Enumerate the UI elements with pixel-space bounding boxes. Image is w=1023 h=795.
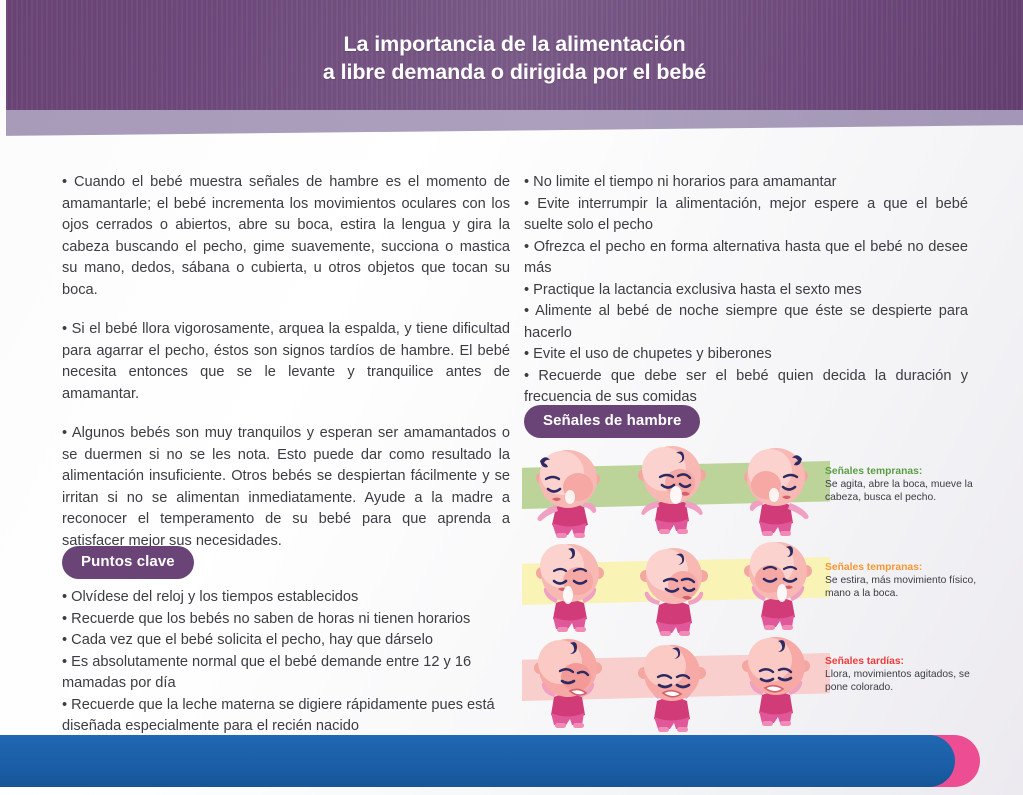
content-area: • Cuando el bebé muestra señales de hamb… xyxy=(0,150,1023,745)
signal-caption-title: Señales tempranas: xyxy=(825,465,985,478)
baby-illustration-icon xyxy=(632,545,716,641)
hunger-signals-badge: Señales de hambre xyxy=(524,405,700,438)
baby-illustration-icon xyxy=(736,539,820,635)
list-item: • Es absolutamente normal que el bebé de… xyxy=(62,652,517,695)
header-banner: La importancia de la alimentación a libr… xyxy=(6,0,1023,118)
list-item: • Alimente al bebé de noche siempre que … xyxy=(524,301,968,344)
hunger-signals-panel: Señales tempranas: Se agita, abre la boc… xyxy=(520,443,990,741)
key-points-list: • Olvídese del reloj y los tiempos estab… xyxy=(62,587,517,738)
list-item: • Recuerde que la leche materna se digie… xyxy=(62,695,517,738)
page-title-line-1: La importancia de la alimentación xyxy=(6,30,1023,58)
header-ribbon-divider xyxy=(6,110,1023,146)
hunger-signals-badge-wrap: Señales de hambre xyxy=(524,405,700,438)
key-points-badge-wrap: Puntos clave xyxy=(62,546,194,579)
baby-group-row-3 xyxy=(520,635,835,733)
list-item: • Recuerde que los bebés no saben de hor… xyxy=(62,609,517,631)
list-item: • No limite el tiempo ni horarios para a… xyxy=(524,172,968,194)
list-item: • Ofrezca el pecho en forma alternativa … xyxy=(524,237,968,280)
list-item: • Practique la lactancia exclusiva hasta… xyxy=(524,280,968,302)
paragraph-late-signs: • Si el bebé llora vigorosamente, arquea… xyxy=(62,319,510,405)
signal-caption-title: Señales tempranas: xyxy=(825,561,985,574)
signal-caption-title: Señales tardías: xyxy=(825,655,985,668)
signal-caption-body: Se agita, abre la boca, mueve la cabeza,… xyxy=(825,478,985,504)
baby-illustration-icon xyxy=(734,635,818,731)
page-title-line-2: a libre demanda o dirigida por el bebé xyxy=(6,58,1023,86)
paragraph-hunger-cues: • Cuando el bebé muestra señales de hamb… xyxy=(62,172,510,301)
signal-row-early-2: Señales tempranas: Se estira, más movimi… xyxy=(520,539,990,637)
baby-illustration-icon xyxy=(630,443,714,539)
signal-caption-body: Llora, movimientos agitados, se pone col… xyxy=(825,668,985,694)
list-item: • Cada vez que el bebé solicita el pecho… xyxy=(62,630,517,652)
page-title: La importancia de la alimentación a libr… xyxy=(6,30,1023,86)
baby-illustration-icon xyxy=(526,447,610,543)
list-item: • Evite interrumpir la alimentación, mej… xyxy=(524,194,968,237)
right-column: • No limite el tiempo ni horarios para a… xyxy=(524,172,968,409)
baby-group-row-1 xyxy=(520,443,835,541)
signal-row-late: Señales tardías: Llora, movimientos agit… xyxy=(520,635,990,733)
baby-illustration-icon xyxy=(526,637,610,733)
list-item: • Recuerde que debe ser el bebé quien de… xyxy=(524,366,968,409)
left-column: • Cuando el bebé muestra señales de hamb… xyxy=(62,172,510,552)
list-item: • Olvídese del reloj y los tiempos estab… xyxy=(62,587,517,609)
signal-row-early-1: Señales tempranas: Se agita, abre la boc… xyxy=(520,443,990,541)
footer-bar-blue xyxy=(0,735,955,787)
baby-illustration-icon xyxy=(528,541,612,637)
signal-caption-1: Señales tempranas: Se agita, abre la boc… xyxy=(825,465,985,504)
paragraph-calm-babies: • Algunos bebés son muy tranquilos y esp… xyxy=(62,423,510,552)
baby-illustration-icon xyxy=(630,641,714,737)
recommendations-list: • No limite el tiempo ni horarios para a… xyxy=(524,172,968,409)
infographic-poster: La importancia de la alimentación a libr… xyxy=(0,0,1023,795)
baby-group-row-2 xyxy=(520,539,835,637)
signal-caption-body: Se estira, más movimiento físico, mano a… xyxy=(825,574,985,600)
baby-illustration-icon xyxy=(734,445,818,541)
signal-caption-3: Señales tardías: Llora, movimientos agit… xyxy=(825,655,985,694)
list-item: • Evite el uso de chupetes y biberones xyxy=(524,344,968,366)
key-points-badge: Puntos clave xyxy=(62,546,194,579)
signal-caption-2: Señales tempranas: Se estira, más movimi… xyxy=(825,561,985,600)
